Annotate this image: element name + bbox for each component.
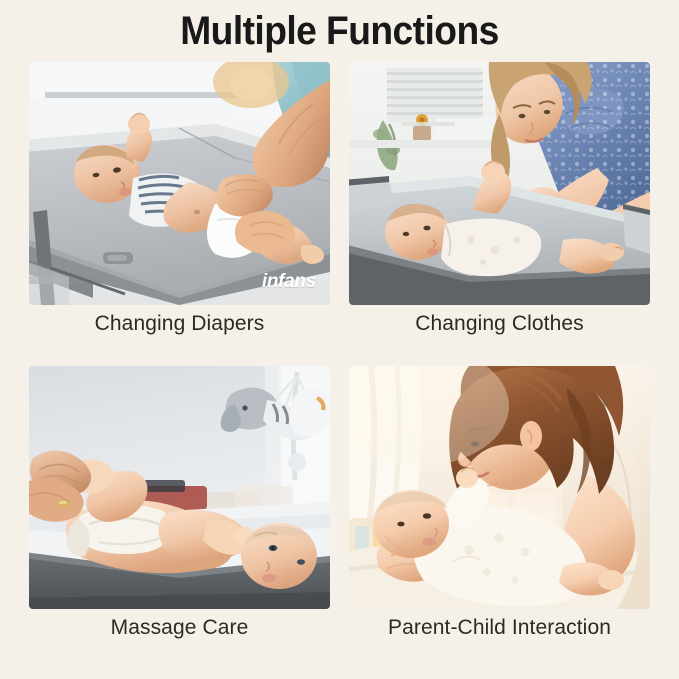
feature-card-changing-clothes: Changing Clothes: [349, 62, 650, 345]
caption-parent-child-interaction: Parent-Child Interaction: [349, 615, 650, 641]
photo-changing-diapers: infans: [29, 62, 330, 305]
infans-brand-watermark: infans: [262, 271, 316, 293]
caption-changing-diapers: Changing Diapers: [29, 311, 330, 337]
feature-card-changing-diapers: infans Changing Diapers: [29, 62, 330, 345]
photo-massage-care: [29, 366, 330, 609]
caption-massage-care: Massage Care: [29, 615, 330, 641]
caption-changing-clothes: Changing Clothes: [349, 311, 650, 337]
photo-changing-clothes: [349, 62, 650, 305]
photo-parent-child-interaction: [349, 366, 650, 609]
feature-card-massage-care: Massage Care: [29, 366, 330, 649]
promo-graphic: Multiple Functions: [0, 0, 679, 679]
page-title: Multiple Functions: [24, 8, 655, 54]
feature-card-parent-child-interaction: Parent-Child Interaction: [349, 366, 650, 649]
